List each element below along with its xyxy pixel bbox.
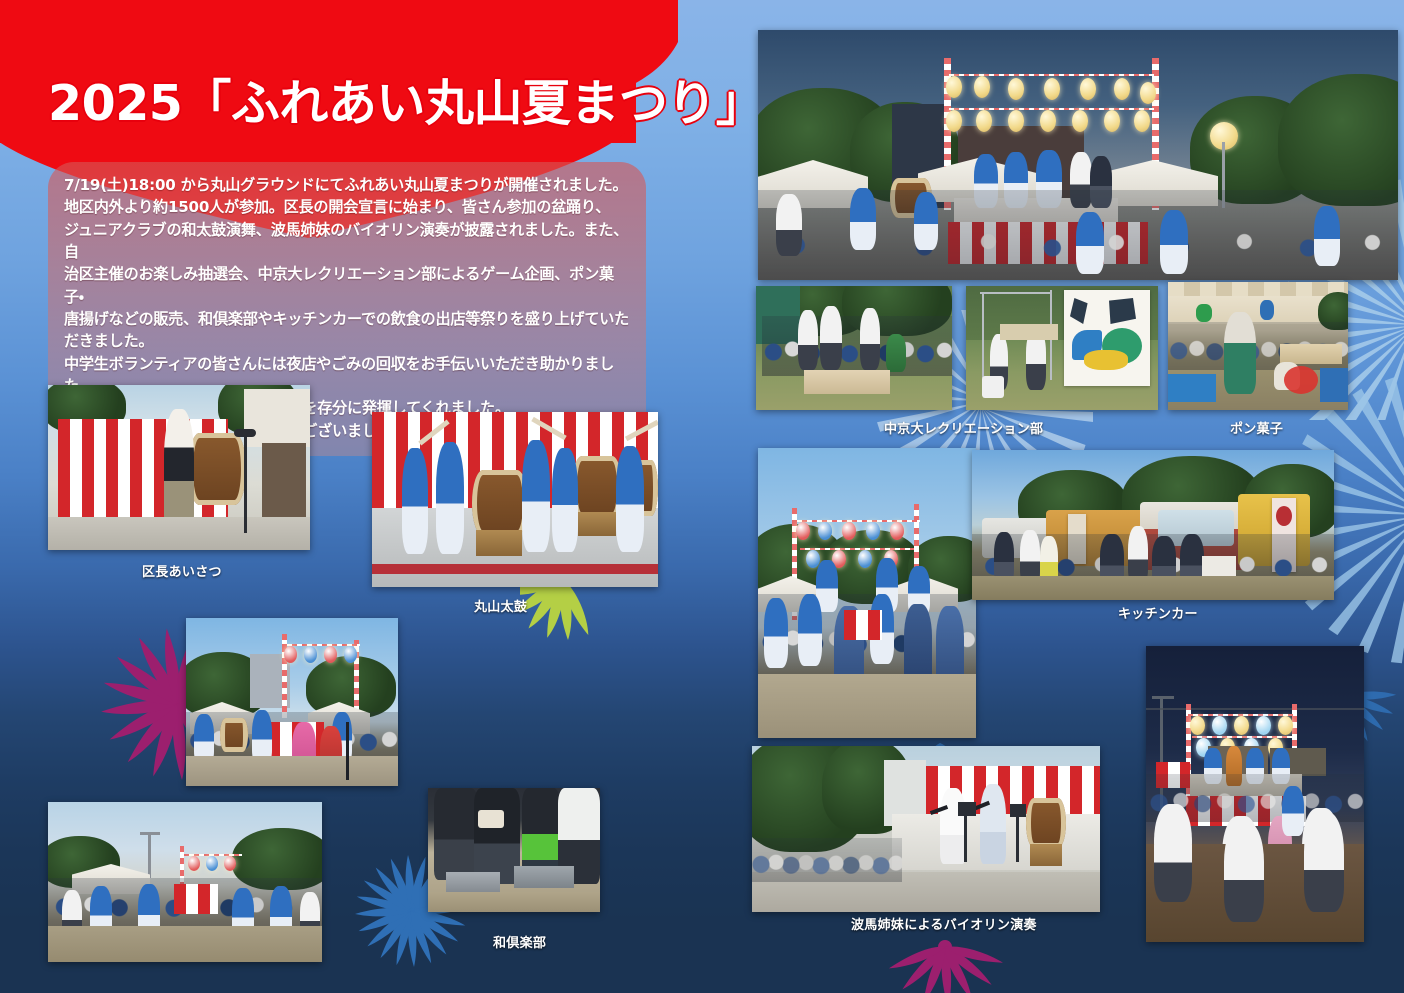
photo-stage-crowd-image: [758, 448, 976, 738]
photo-wa-club-image: [428, 788, 600, 912]
photo-water-gun[interactable]: [966, 286, 1158, 410]
photo-kucho-image: [48, 385, 310, 550]
desc-line-3: ジュニアクラブの和太鼓演舞、波馬姉妹のバイオリン演奏が披露されました。また、自: [64, 219, 630, 264]
desc-line-4: 治区主催のお楽しみ抽選会、中京大レクリエーション部によるゲーム企画、ポン菓子・: [64, 263, 630, 308]
photo-ground-crowd[interactable]: [48, 802, 322, 962]
photo-bon-odori-day-image: [186, 618, 398, 786]
caption-kitchen-car: キッチンカー: [1118, 603, 1198, 622]
photo-bon-odori-day[interactable]: [186, 618, 398, 786]
photo-violin-image: [752, 746, 1100, 912]
photo-kitchen-car[interactable]: [972, 450, 1334, 600]
photo-kucho-aisatsu[interactable]: [48, 385, 310, 550]
photo-ground-crowd-image: [48, 802, 322, 962]
firework-magenta-bottomcenter-icon: [860, 925, 1030, 993]
caption-chukyo-rec: 中京大レクリエーション部: [884, 418, 1043, 437]
photo-pon-gashi[interactable]: [1168, 282, 1348, 410]
photo-game-booth-image: [756, 286, 952, 410]
photo-stage-main[interactable]: [758, 30, 1398, 280]
caption-pon-gashi: ポン菓子: [1230, 418, 1283, 437]
caption-maruyama-taiko: 丸山太鼓: [474, 596, 527, 615]
caption-kucho-aisatsu: 区長あいさつ: [142, 561, 222, 580]
photo-kitchen-car-image: [972, 450, 1334, 600]
desc-line-6: だきました。: [64, 330, 630, 352]
desc-line-2: 地区内外より約1500人が参加。区長の開会宣言に始まり、皆さん参加の盆踊り、: [64, 196, 630, 218]
caption-violin: 波馬姉妹によるバイオリン演奏: [851, 914, 1037, 933]
photo-violin[interactable]: [752, 746, 1100, 912]
photo-bon-odori-night-image: [1146, 646, 1364, 942]
photo-game-booth[interactable]: [756, 286, 952, 410]
poster-canvas: 2025「ふれあい丸山夏まつり」 7/19(土)18:00 から丸山グラウンドに…: [0, 0, 1404, 993]
photo-water-gun-image: [966, 286, 1158, 410]
desc-line-5: 唐揚げなどの販売、和倶楽部やキッチンカーでの飲食の出店等祭りを盛り上げていた: [64, 308, 630, 330]
photo-pon-gashi-image: [1168, 282, 1348, 410]
photo-bon-odori-night[interactable]: [1146, 646, 1364, 942]
page-title: 2025「ふれあい丸山夏まつり」: [48, 78, 708, 129]
photo-wa-club[interactable]: [428, 788, 600, 912]
photo-taiko-image: [372, 412, 658, 587]
caption-wa-club: 和倶楽部: [493, 932, 546, 951]
photo-stage-main-image: [758, 30, 1398, 280]
photo-stage-crowd[interactable]: [758, 448, 976, 738]
desc-line-1: 7/19(土)18:00 から丸山グラウンドにてふれあい丸山夏まつりが開催されま…: [64, 174, 630, 196]
photo-maruyama-taiko[interactable]: [372, 412, 658, 587]
